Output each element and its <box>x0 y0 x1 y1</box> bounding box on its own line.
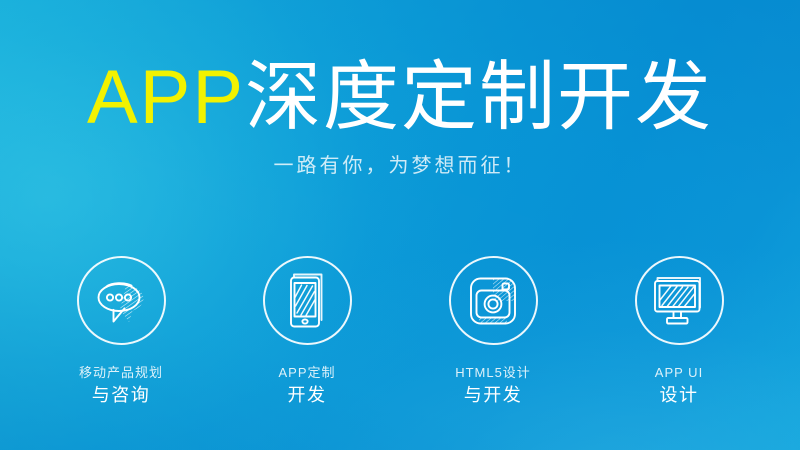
feature-item[interactable]: 移动产品规划 与咨询 <box>28 256 214 407</box>
feature-icon-circle <box>77 256 166 345</box>
feature-caption: 移动产品规划 与咨询 <box>79 364 163 407</box>
headline-keyword: APP <box>87 55 245 140</box>
feature-item[interactable]: APP UI 设计 <box>586 256 772 407</box>
feature-caption-top: HTML5设计 <box>455 364 531 381</box>
desktop-monitor-icon <box>651 276 707 326</box>
banner-subtitle: 一路有你，为梦想而征！ <box>0 152 800 180</box>
camera-icon <box>466 274 520 328</box>
feature-caption-top: 移动产品规划 <box>79 364 163 381</box>
feature-item[interactable]: HTML5设计 与开发 <box>400 256 586 407</box>
promo-banner: APP深度定制开发 一路有你，为梦想而征！ <box>0 0 800 450</box>
feature-item[interactable]: APP定制 开发 <box>214 256 400 407</box>
feature-caption-bottom: 与咨询 <box>79 384 163 407</box>
feature-caption: HTML5设计 与开发 <box>455 364 531 407</box>
banner-headline: APP深度定制开发 <box>0 55 800 141</box>
feature-caption: APP UI 设计 <box>655 364 703 407</box>
headline-rest: 深度定制开发 <box>245 55 713 140</box>
feature-caption: APP定制 开发 <box>278 364 335 407</box>
feature-caption-bottom: 开发 <box>278 384 335 407</box>
feature-caption-bottom: 设计 <box>655 384 703 407</box>
feature-icon-circle <box>263 256 352 345</box>
speech-bubble-icon <box>93 276 149 326</box>
feature-list: 移动产品规划 与咨询 <box>0 256 800 407</box>
banner-content: APP深度定制开发 一路有你，为梦想而征！ <box>0 0 800 450</box>
feature-caption-top: APP UI <box>655 364 703 381</box>
feature-icon-circle <box>449 256 538 345</box>
mobile-phone-icon <box>285 272 329 330</box>
feature-icon-circle <box>635 256 724 345</box>
feature-caption-top: APP定制 <box>278 364 335 381</box>
feature-caption-bottom: 与开发 <box>455 384 531 407</box>
